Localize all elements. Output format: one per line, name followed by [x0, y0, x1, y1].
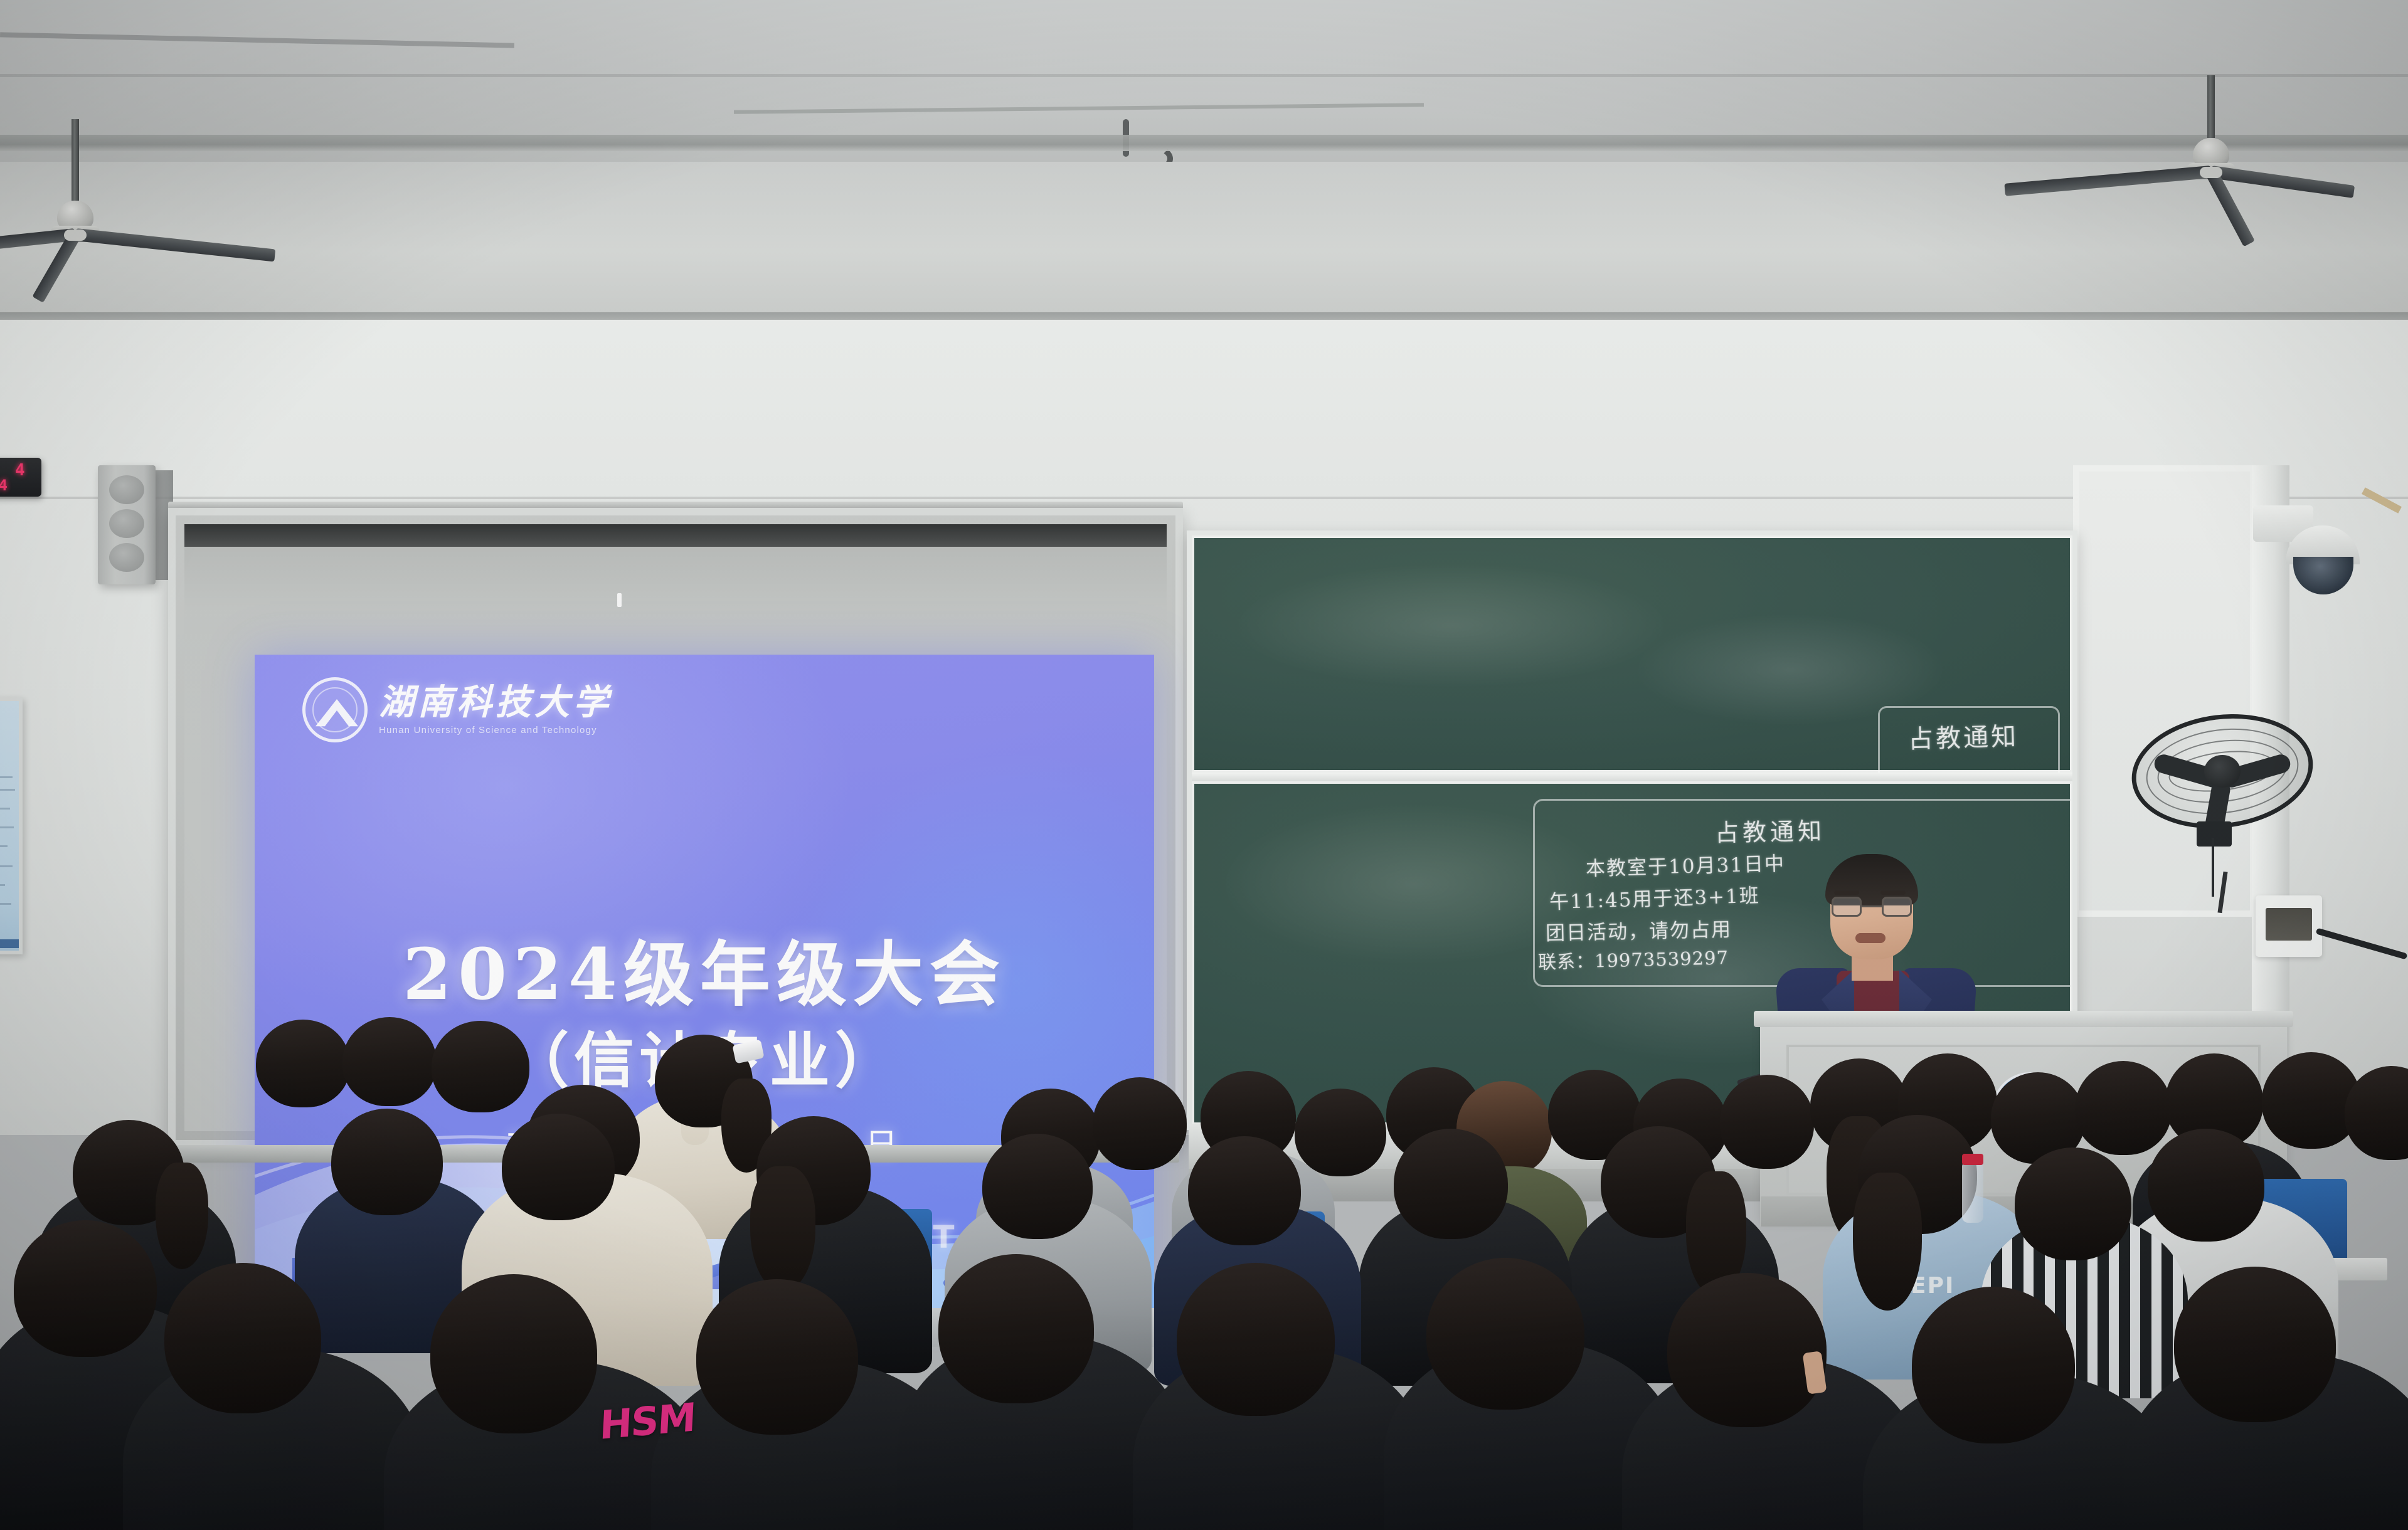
student-head [1093, 1077, 1187, 1170]
university-name-en: Hunan University of Science and Technolo… [379, 725, 612, 736]
fan-downrod [2207, 75, 2215, 138]
led-digits-top: 4 [15, 461, 25, 480]
university-name-cn: 湖南科技大学 [379, 684, 612, 721]
apparel-text-tee: EPI [1911, 1273, 1955, 1299]
student-head [342, 1017, 437, 1106]
presenter-eyebrow [1880, 890, 1906, 895]
bottle-cap [1962, 1154, 1983, 1165]
chalk-notice-line: 占教通知 [1715, 811, 1826, 848]
student-head [331, 1109, 443, 1215]
whiteboard-header-strip [184, 524, 1167, 547]
wall-fan-mount [2197, 821, 2232, 847]
dome-camera-icon [2257, 500, 2376, 607]
student-head [2148, 1129, 2264, 1242]
water-bottle [1962, 1163, 1983, 1223]
student-head [2075, 1061, 2172, 1155]
notice-board-footer-bar [0, 939, 19, 948]
ceiling-fan-left [38, 119, 113, 245]
led-display-icon: 4 24 [0, 458, 41, 497]
student-head [1667, 1273, 1827, 1427]
student-ponytail [1853, 1173, 1922, 1311]
ceiling-fan-right [2173, 75, 2249, 207]
chalk-notice-line: 联系：19973539297 [1538, 943, 1729, 974]
speaker-driver [109, 509, 144, 538]
presenter-mouth [1855, 933, 1886, 943]
student-ponytail [750, 1166, 815, 1292]
hair-clip [732, 1040, 764, 1064]
student-head [1295, 1089, 1386, 1176]
wall-panel-right [2073, 465, 2256, 917]
ceiling-seam [0, 74, 2408, 77]
student-head [1912, 1287, 2075, 1443]
student-head [502, 1114, 615, 1220]
student-head [1188, 1136, 1301, 1245]
slide-title: 2024级年级大会 [255, 918, 1154, 1020]
slide-university-logo: 湖南科技大学 Hunan University of Science and T… [302, 677, 612, 742]
presenter-eyebrow [1834, 890, 1859, 895]
student-head [2174, 1267, 2336, 1422]
apparel-text-hoodie: HSM [598, 1394, 696, 1448]
student-head [2015, 1147, 2131, 1260]
eyeglasses-icon [1832, 897, 1912, 918]
student-head [256, 1020, 350, 1107]
student-audience: EPI HSM [0, 1010, 2408, 1530]
wall-speaker-icon [98, 465, 156, 584]
student-head [982, 1134, 1093, 1239]
led-digits-bottom: 24 [0, 477, 7, 494]
student-head [1720, 1075, 1814, 1169]
student-head [938, 1254, 1094, 1403]
chalk-notice-title-upper: 占教通知 [1907, 716, 2018, 756]
student-ponytail [156, 1163, 208, 1269]
student-head [1394, 1129, 1508, 1239]
student-head [1177, 1263, 1335, 1416]
mouse-cursor-icon [617, 593, 622, 607]
wall-seam [0, 497, 2408, 499]
blackboard-upper: 占教通知 [1192, 535, 2072, 773]
student-head [14, 1220, 157, 1357]
notice-board-icon [0, 697, 23, 954]
chalk-notice-line: 团日活动，请勿占用 [1546, 914, 1732, 946]
student-head [430, 1274, 597, 1433]
speaker-driver [109, 543, 144, 572]
student-head [432, 1021, 529, 1112]
speaker-driver [109, 475, 144, 504]
classroom-scene: EPSON 4 24 [0, 0, 2408, 1530]
fan-cap [2200, 167, 2222, 178]
wall-fan-icon [2131, 715, 2313, 828]
mountain-crest-icon [302, 677, 368, 742]
wall-fan-hub [2204, 755, 2241, 788]
ceiling-beam [0, 135, 2408, 151]
wall-fan-pull-cord [2212, 838, 2214, 897]
student-head [1426, 1258, 1584, 1410]
outlet-face [2266, 908, 2312, 941]
student-head [696, 1279, 858, 1435]
fan-downrod [72, 119, 79, 201]
chalk-notice-line: 本教室于10月31日中 [1585, 848, 1785, 881]
fan-cap [64, 229, 87, 241]
camera-dome-lens [2293, 557, 2353, 594]
student-head [164, 1263, 321, 1413]
power-outlet-icon [2256, 895, 2322, 957]
